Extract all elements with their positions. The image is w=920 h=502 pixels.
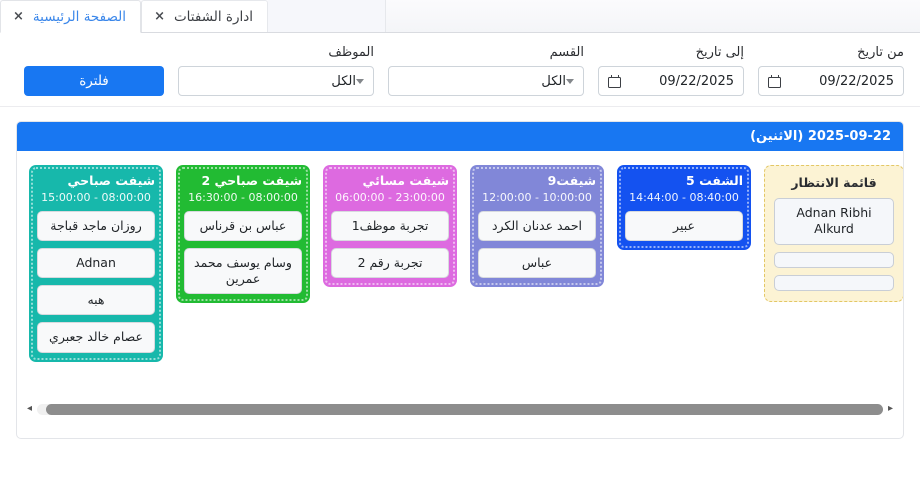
waiting-list-card[interactable]: قائمة الانتظارAdnan Ribhi Alkurd — [764, 165, 904, 302]
shift-card[interactable]: الشفت 514:44:00 - 08:40:00عبير — [617, 165, 751, 250]
shift-title: شيفت مسائي — [331, 173, 449, 189]
shift-employee-chip[interactable]: تجربة رقم 2 — [331, 248, 449, 278]
shift-time-range: 14:44:00 - 08:40:00 — [625, 191, 743, 204]
filter-to-date-group: إلى تاريخ 09/22/2025 — [598, 45, 744, 96]
shift-card[interactable]: شيفت مسائي06:00:00 - 23:00:00تجربة موظف1… — [323, 165, 457, 287]
shift-board: شيفت صباحي15:00:00 - 08:00:00روزان ماجد … — [17, 151, 903, 390]
shift-employee-chip[interactable]: وسام يوسف محمد عمرين — [184, 248, 302, 295]
filter-submit-group: فلترة — [24, 66, 164, 96]
scrollbar-track[interactable] — [37, 404, 883, 415]
filter-department-group: القسم الكل — [388, 45, 584, 96]
scroll-left-arrow-icon[interactable]: ◂ — [27, 404, 32, 414]
shift-time-range: 16:30:00 - 08:00:00 — [184, 191, 302, 204]
waiting-list-empty-slot[interactable] — [774, 252, 894, 268]
employee-label: الموظف — [178, 45, 374, 60]
tab-home[interactable]: الصفحة الرئيسية × — [0, 0, 141, 33]
shift-time-range: 06:00:00 - 23:00:00 — [331, 191, 449, 204]
day-schedule-panel: 2025-09-22 (الاثنين) شيفت صباحي15:00:00 … — [16, 121, 904, 439]
shift-card[interactable]: شيفت912:00:00 - 10:00:00احمد عدنان الكرد… — [470, 165, 604, 287]
department-label: القسم — [388, 45, 584, 60]
chevron-down-icon — [566, 79, 574, 84]
department-select[interactable]: الكل — [388, 66, 584, 96]
shift-employee-chip[interactable]: روزان ماجد قباجة — [37, 211, 155, 241]
to-date-value: 09/22/2025 — [659, 74, 734, 89]
waiting-list-employee-chip[interactable]: Adnan Ribhi Alkurd — [774, 198, 894, 245]
shift-employee-chip[interactable]: عصام خالد جعبري — [37, 322, 155, 352]
shift-employee-chip[interactable]: تجربة موظف1 — [331, 211, 449, 241]
filter-button[interactable]: فلترة — [24, 66, 164, 96]
calendar-icon — [768, 75, 781, 88]
shift-title: شيفت9 — [478, 173, 596, 189]
calendar-icon — [608, 75, 621, 88]
employee-select[interactable]: الكل — [178, 66, 374, 96]
department-value: الكل — [398, 74, 566, 89]
close-icon[interactable]: × — [13, 10, 24, 23]
shift-card[interactable]: شيفت صباحي15:00:00 - 08:00:00روزان ماجد … — [29, 165, 163, 362]
tab-home-label: الصفحة الرئيسية — [33, 9, 126, 25]
tab-strip-filler — [268, 0, 386, 32]
tab-shift-management[interactable]: ادارة الشفتات × — [141, 0, 268, 32]
waiting-list-empty-slot[interactable] — [774, 275, 894, 291]
scroll-right-arrow-icon[interactable]: ▸ — [888, 404, 893, 414]
to-date-label: إلى تاريخ — [598, 45, 744, 60]
horizontal-scrollbar[interactable]: ▸ ◂ — [17, 398, 903, 420]
shift-employee-chip[interactable]: عبير — [625, 211, 743, 241]
from-date-label: من تاريخ — [758, 45, 904, 60]
waiting-list-title: قائمة الانتظار — [774, 175, 894, 190]
shift-time-range: 15:00:00 - 08:00:00 — [37, 191, 155, 204]
close-icon[interactable]: × — [154, 10, 165, 23]
shift-time-range: 12:00:00 - 10:00:00 — [478, 191, 596, 204]
employee-value: الكل — [188, 74, 356, 89]
scrollbar-thumb[interactable] — [46, 404, 883, 415]
shift-employee-chip[interactable]: Adnan — [37, 248, 155, 278]
shift-title: شيفت صباحي 2 — [184, 173, 302, 189]
shift-employee-chip[interactable]: عباس — [478, 248, 596, 278]
shift-card[interactable]: شيفت صباحي 216:30:00 - 08:00:00عباس بن ق… — [176, 165, 310, 303]
shift-title: الشفت 5 — [625, 173, 743, 189]
from-date-input[interactable]: 09/22/2025 — [758, 66, 904, 96]
chevron-down-icon — [356, 79, 364, 84]
day-header: 2025-09-22 (الاثنين) — [17, 122, 903, 151]
shift-employee-chip[interactable]: احمد عدنان الكرد — [478, 211, 596, 241]
browser-tab-bar: الصفحة الرئيسية × ادارة الشفتات × — [0, 0, 920, 33]
shift-title: شيفت صباحي — [37, 173, 155, 189]
filter-bar: من تاريخ 09/22/2025 إلى تاريخ 09/22/2025… — [0, 33, 920, 107]
from-date-value: 09/22/2025 — [819, 74, 894, 89]
filter-employee-group: الموظف الكل — [178, 45, 374, 96]
to-date-input[interactable]: 09/22/2025 — [598, 66, 744, 96]
shift-employee-chip[interactable]: عباس بن قرناس — [184, 211, 302, 241]
filter-from-date-group: من تاريخ 09/22/2025 — [758, 45, 904, 96]
tab-shift-management-label: ادارة الشفتات — [174, 9, 253, 25]
shift-employee-chip[interactable]: هبه — [37, 285, 155, 315]
